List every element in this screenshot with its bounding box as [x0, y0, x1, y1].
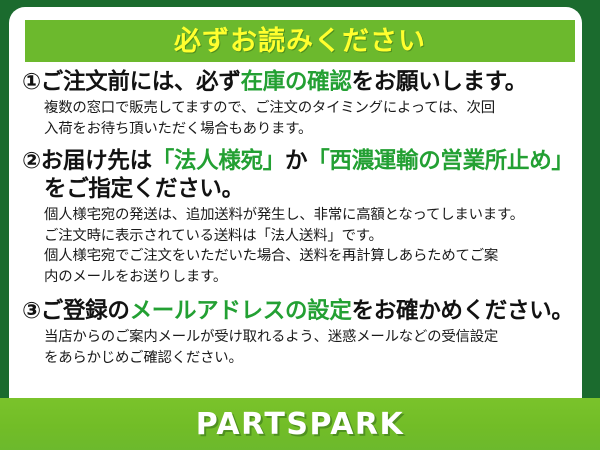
- item-3-headline-part-3: をお確かめください。: [352, 298, 574, 324]
- item-3-headline-part-1: ご登録の: [41, 298, 130, 324]
- notice-inner-panel: 必ずお読みください ①ご注文前には、必ず在庫の確認をお願いします。 複数の窓口で…: [9, 7, 582, 443]
- notice-item-1: ①ご注文前には、必ず在庫の確認をお願いします。 複数の窓口で販売してますので、ご…: [9, 69, 582, 139]
- item-1-subline-1: 複数の窓口で販売してますので、ご注文のタイミングによっては、次回: [44, 98, 574, 118]
- item-2-headline: ②お届け先は「法人様宛」か「西濃運輸の営業所止め」をご指定ください。: [22, 148, 574, 203]
- item-1-subline-2: 入荷をお待ち頂いただく場合もあります。: [44, 119, 574, 139]
- notice-body: ①ご注文前には、必ず在庫の確認をお願いします。 複数の窓口で販売してますので、ご…: [9, 69, 582, 368]
- notice-item-2: ②お届け先は「法人様宛」か「西濃運輸の営業所止め」をご指定ください。 個人様宅宛…: [9, 148, 582, 287]
- footer-bar: PARTSPARK: [0, 398, 600, 450]
- item-2-subline-1: 個人様宅宛の発送は、追加送料が発生し、非常に高額となってしまいます。: [44, 205, 574, 225]
- item-1-headline-part-3: をお願いします。: [352, 69, 527, 95]
- item-2-headline-line2: をご指定ください。: [22, 176, 574, 203]
- item-1-headline: ①ご注文前には、必ず在庫の確認をお願いします。: [22, 69, 574, 96]
- item-3-headline: ③ご登録のメールアドレスの設定をお確かめください。: [22, 298, 574, 325]
- item-3-subline-1: 当店からのご案内メールが受け取れるよう、迷惑メールなどの受信設定: [44, 327, 574, 347]
- item-1-headline-part-1: ご注文前には、必ず: [41, 69, 241, 95]
- item-2-subline-3: 個人様宅宛でご注文をいただいた場合、送料を再計算しあらためてご案: [44, 246, 574, 266]
- brand-logo: PARTSPARK: [196, 407, 405, 442]
- item-2-subline-4: 内のメールをお送りします。: [44, 267, 574, 287]
- item-1-headline-highlight: 在庫の確認: [241, 69, 352, 95]
- item-3-marker: ③: [22, 298, 41, 324]
- item-2-headline-highlight-1: 「法人様宛」: [152, 148, 285, 174]
- item-3-subline-2: をあらかじめご確認ください。: [44, 348, 574, 368]
- item-3-subtext: 当店からのご案内メールが受け取れるよう、迷惑メールなどの受信設定 をあらかじめご…: [22, 327, 574, 368]
- header-banner: 必ずお読みください: [25, 20, 575, 62]
- item-1-subtext: 複数の窓口で販売してますので、ご注文のタイミングによっては、次回 入荷をお待ち頂…: [22, 98, 574, 139]
- notice-card: 必ずお読みください ①ご注文前には、必ず在庫の確認をお願いします。 複数の窓口で…: [0, 0, 600, 450]
- item-2-headline-part-1: お届け先は: [41, 148, 152, 174]
- header-title: 必ずお読みください: [174, 28, 426, 55]
- item-2-subtext: 個人様宅宛の発送は、追加送料が発生し、非常に高額となってしまいます。 ご注文時に…: [22, 205, 574, 287]
- item-2-subline-2: ご注文時に表示されている送料は「法人送料」です。: [44, 226, 574, 246]
- item-2-marker: ②: [22, 148, 41, 174]
- item-2-headline-part-3: か: [285, 148, 307, 174]
- notice-item-3: ③ご登録のメールアドレスの設定をお確かめください。 当店からのご案内メールが受け…: [9, 298, 582, 368]
- item-2-headline-highlight-2: 「西濃運輸の営業所止め」: [307, 148, 573, 174]
- item-1-marker: ①: [22, 69, 41, 95]
- item-3-headline-highlight: メールアドレスの設定: [130, 298, 352, 324]
